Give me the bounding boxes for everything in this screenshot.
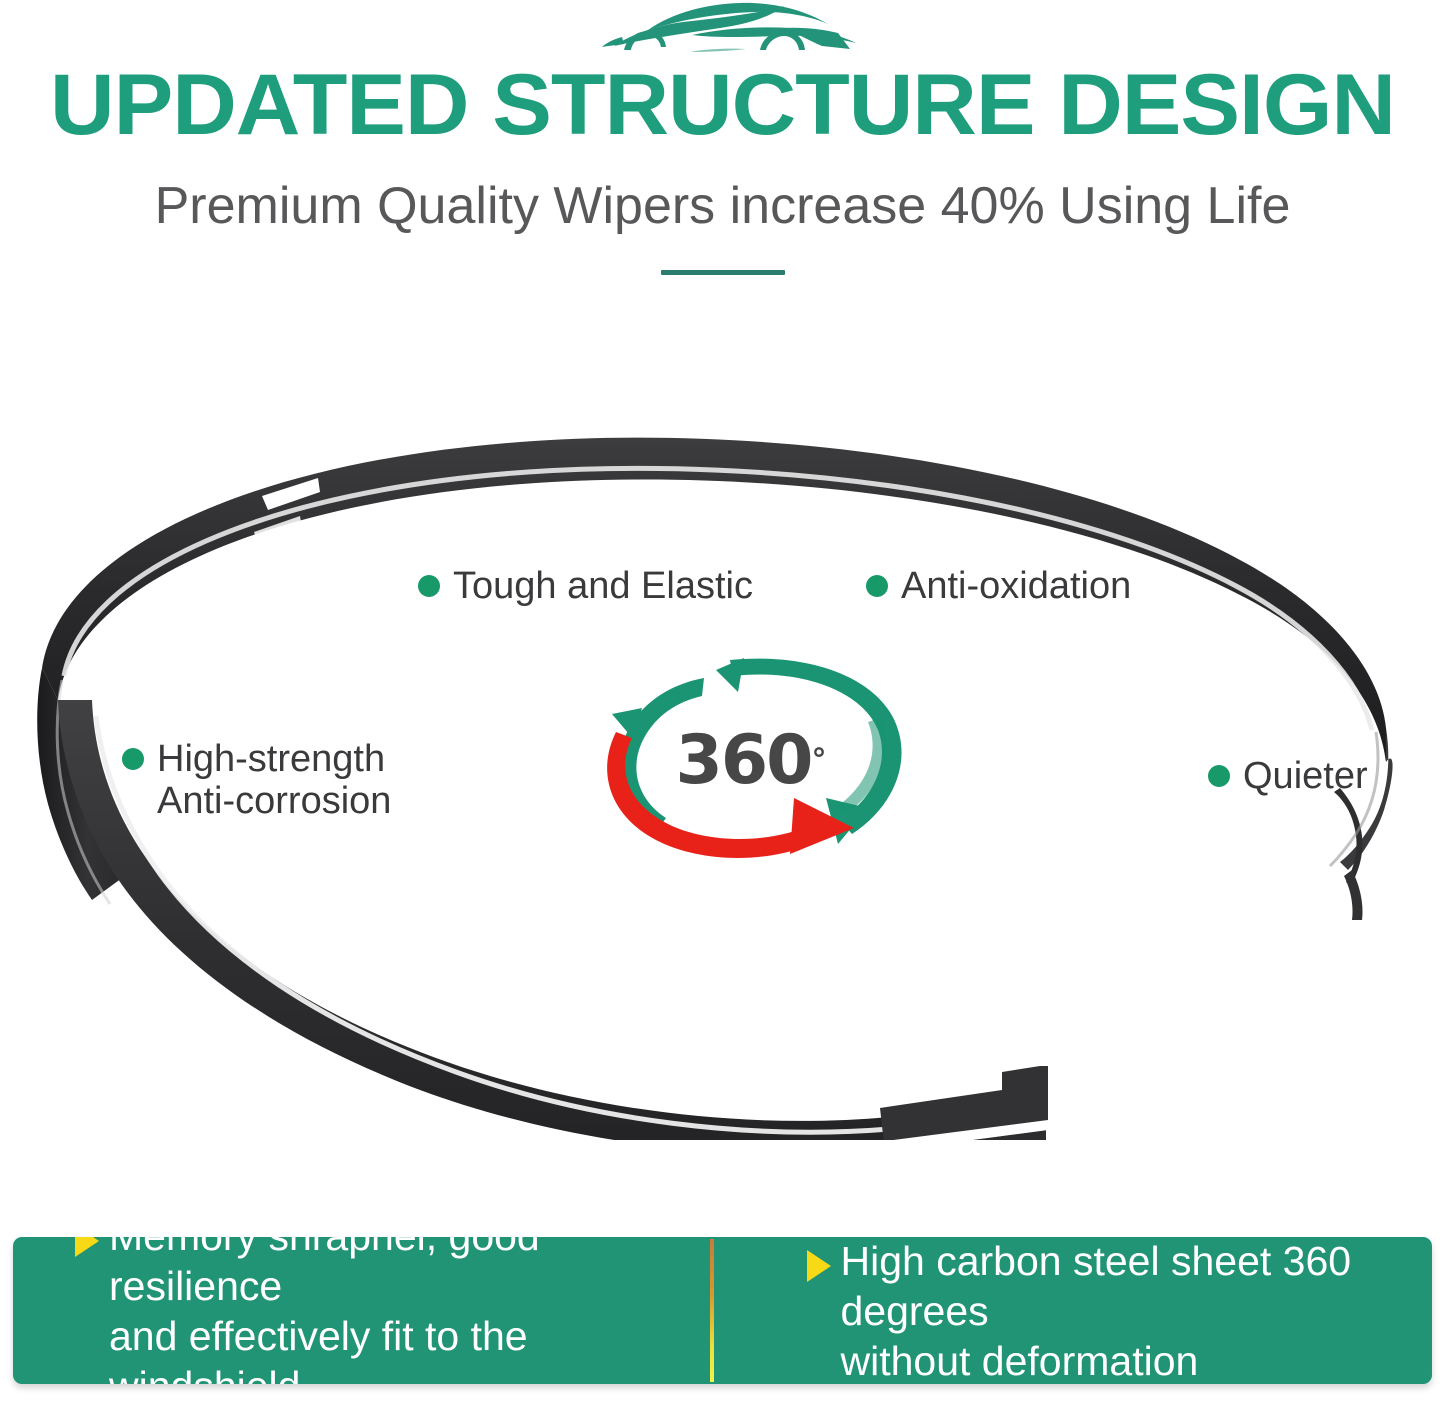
banner-panel-left: Memory shrapnel, good resilience and eff… (13, 1237, 723, 1384)
callout-high-strength-anti-corrosion: High-strength Anti-corrosion (122, 738, 391, 822)
rotation-arrows-icon (568, 648, 918, 878)
feature-banner: Memory shrapnel, good resilience and eff… (13, 1237, 1432, 1384)
product-infographic: UPDATED STRUCTURE DESIGN Premium Quality… (0, 0, 1445, 1421)
banner-panel-right: High carbon steel sheet 360 degrees with… (723, 1237, 1433, 1384)
banner-right-text: High carbon steel sheet 360 degrees with… (841, 1237, 1433, 1384)
bullet-dot-icon (418, 575, 440, 597)
callout-label: High-strength Anti-corrosion (157, 738, 391, 822)
callout-anti-oxidation: Anti-oxidation (866, 565, 1131, 607)
bullet-dot-icon (866, 575, 888, 597)
callout-quieter: Quieter (1208, 755, 1368, 797)
page-subtitle: Premium Quality Wipers increase 40% Usin… (0, 176, 1445, 236)
car-silhouette-logo-icon (588, 2, 868, 60)
bullet-dot-icon (1208, 765, 1230, 787)
bullet-dot-icon (122, 748, 144, 770)
play-triangle-icon (75, 1237, 99, 1257)
banner-divider (710, 1239, 714, 1382)
badge-360-degree: 360° (568, 648, 918, 878)
page-title: UPDATED STRUCTURE DESIGN (0, 60, 1445, 150)
banner-left-text: Memory shrapnel, good resilience and eff… (109, 1237, 723, 1384)
callout-tough-and-elastic: Tough and Elastic (418, 565, 753, 607)
callout-label: Tough and Elastic (453, 565, 753, 607)
callout-label: Quieter (1243, 755, 1368, 797)
title-underline-divider (661, 270, 785, 275)
callout-label: Anti-oxidation (901, 565, 1131, 607)
play-triangle-icon (807, 1250, 831, 1282)
